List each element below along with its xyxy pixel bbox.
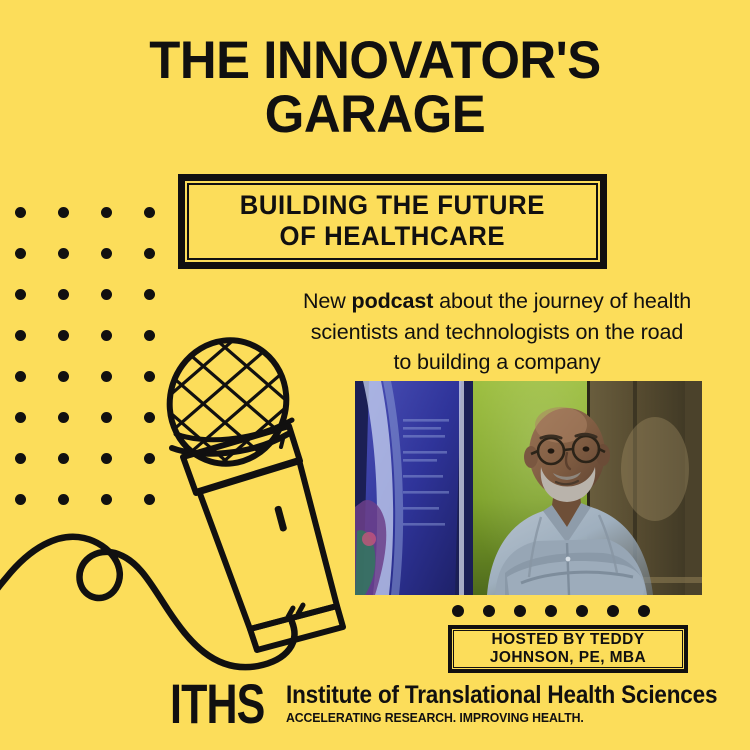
host-line-1: HOSTED BY TEDDY	[491, 631, 644, 648]
row-dot	[452, 605, 464, 617]
subtitle-text: BUILDING THE FUTURE OF HEALTHCARE	[240, 190, 545, 252]
logo-text-block: Institute of Translational Health Scienc…	[286, 682, 750, 726]
subtitle-line-2: OF HEALTHCARE	[280, 221, 506, 251]
podcast-poster: THE INNOVATOR'S GARAGE BUILDING THE FUTU…	[0, 0, 750, 750]
host-line-2: JOHNSON, PE, MBA	[490, 649, 646, 666]
row-dot	[545, 605, 557, 617]
subtitle-line-1: BUILDING THE FUTURE	[240, 190, 545, 220]
iths-logo: ITHS Institute of Translational Health S…	[170, 676, 620, 732]
logo-tagline: ACCELERATING RESEARCH. IMPROVING HEALTH.	[286, 710, 732, 726]
row-dot	[483, 605, 495, 617]
row-dot	[514, 605, 526, 617]
row-dot	[638, 605, 650, 617]
row-dot	[607, 605, 619, 617]
host-credit-text: HOSTED BY TEDDY JOHNSON, PE, MBA	[490, 631, 646, 667]
logo-wordmark: ITHS	[170, 676, 270, 732]
row-dot	[576, 605, 588, 617]
logo-organization-name: Institute of Translational Health Scienc…	[286, 682, 717, 709]
host-credit-box: HOSTED BY TEDDY JOHNSON, PE, MBA	[448, 625, 688, 673]
